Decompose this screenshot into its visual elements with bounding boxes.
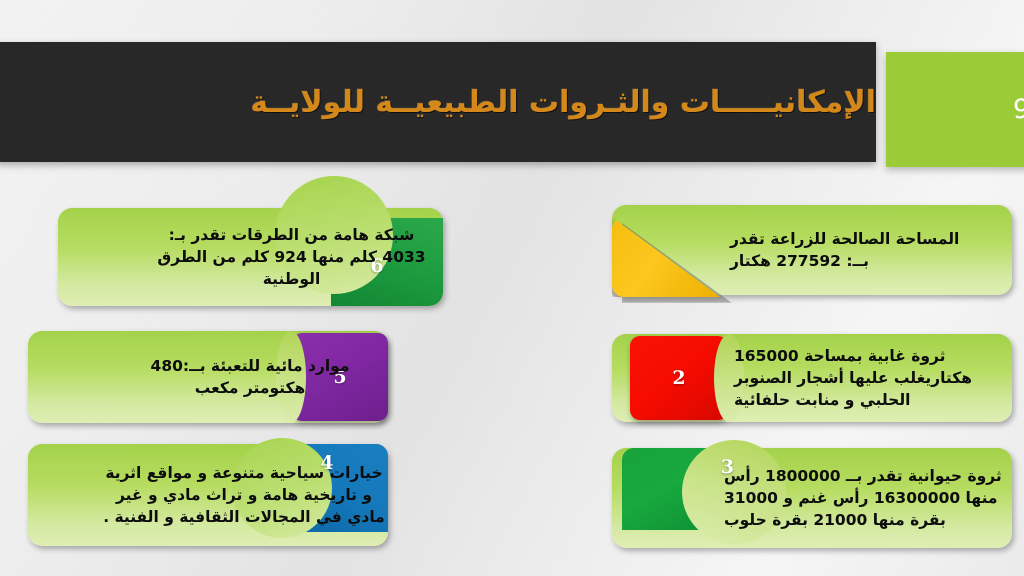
- info-item-4-marker: 4: [284, 444, 388, 532]
- slide-title: الإمكانيـــــات والثـروات الطبيعيــة للو…: [250, 85, 876, 120]
- info-item-5[interactable]: 5 موارد مائية للتعبئة بــ:480 هكتومتر مك…: [28, 331, 388, 423]
- info-item-5-number: 5: [333, 366, 346, 388]
- info-item-5-marker: 5: [292, 333, 388, 421]
- slide-canvas: الإمكانيـــــات والثـروات الطبيعيــة للو…: [0, 0, 1024, 576]
- info-item-2-number: 2: [672, 367, 685, 389]
- info-item-3-number: 3: [721, 456, 734, 478]
- info-item-6-number: 6: [370, 255, 383, 277]
- info-item-3-marker: 3: [622, 448, 734, 530]
- info-item-1[interactable]: 1 المساحة الصالحة للزراعة تقدر بــ: 2775…: [612, 205, 1012, 295]
- page-number-badge: 9: [886, 52, 1024, 167]
- info-item-2-marker: 2: [630, 336, 728, 420]
- info-item-2[interactable]: 2 ثروة غابية بمساحة 165000 هكتاريغلب علي…: [612, 334, 1012, 422]
- info-item-4-number: 4: [320, 452, 333, 474]
- info-item-6-marker: 6: [331, 218, 443, 306]
- slide-title-bar: الإمكانيـــــات والثـروات الطبيعيــة للو…: [0, 42, 876, 162]
- info-item-4[interactable]: 4 خيارات سياحية متنوعة و مواقع اثرية و ت…: [28, 444, 388, 546]
- info-item-6[interactable]: 6 شبكة هامة من الطرقات تقدر بـ: 4033 كلم…: [58, 208, 443, 306]
- info-item-3[interactable]: 3 ثروة حيوانية تقدر بــ 1800000 رأس منها…: [612, 448, 1012, 548]
- page-number-label: 9: [1013, 94, 1024, 125]
